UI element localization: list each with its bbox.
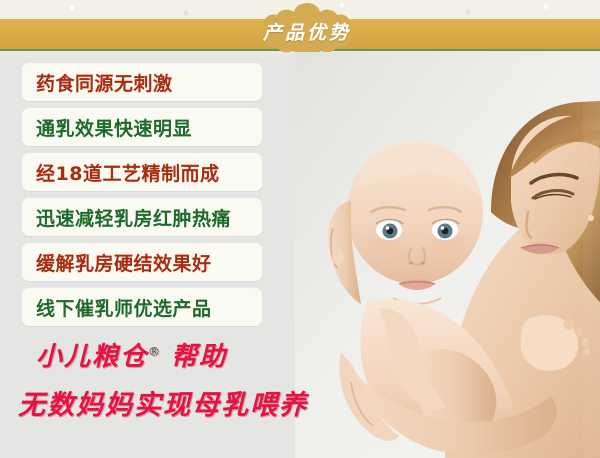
benefit-label-2: 通乳效果快速明显 — [22, 114, 192, 141]
product-advantages-page: 产品优势 — [0, 0, 600, 458]
registered-trademark-icon: ® — [148, 344, 160, 358]
slogan-line-1-suffix: 帮助 — [171, 342, 227, 372]
brand-slogan: 小儿粮仓® 帮助 无数妈妈实现母乳喂养 — [0, 336, 300, 422]
benefit-label-6: 线下催乳师优选产品 — [22, 294, 212, 321]
benefit-item-4: 迅速减轻乳房红肿热痛 — [22, 198, 262, 236]
benefit-label-1: 药食同源无刺激 — [22, 69, 173, 96]
benefit-label-5: 缓解乳房硬结效果好 — [22, 249, 212, 276]
brand-name: 小儿粮仓 — [36, 342, 148, 372]
benefit-item-2: 通乳效果快速明显 — [22, 108, 262, 146]
benefit-label-3: 经18道工艺精制而成 — [22, 159, 219, 186]
benefit-item-6: 线下催乳师优选产品 — [22, 288, 262, 326]
benefits-list: 药食同源无刺激 通乳效果快速明显 经18道工艺精制而成 迅速减轻乳房红肿热痛 缓… — [22, 63, 262, 333]
slogan-line-1: 小儿粮仓® 帮助 — [36, 336, 300, 373]
benefit-item-1: 药食同源无刺激 — [22, 63, 262, 101]
benefit-item-5: 缓解乳房硬结效果好 — [22, 243, 262, 281]
mother-baby-photo — [295, 52, 600, 458]
slogan-line-2: 无数妈妈实现母乳喂养 — [18, 383, 300, 422]
benefit-label-4: 迅速减轻乳房红肿热痛 — [22, 204, 231, 231]
benefit-item-3: 经18道工艺精制而成 — [22, 153, 262, 191]
